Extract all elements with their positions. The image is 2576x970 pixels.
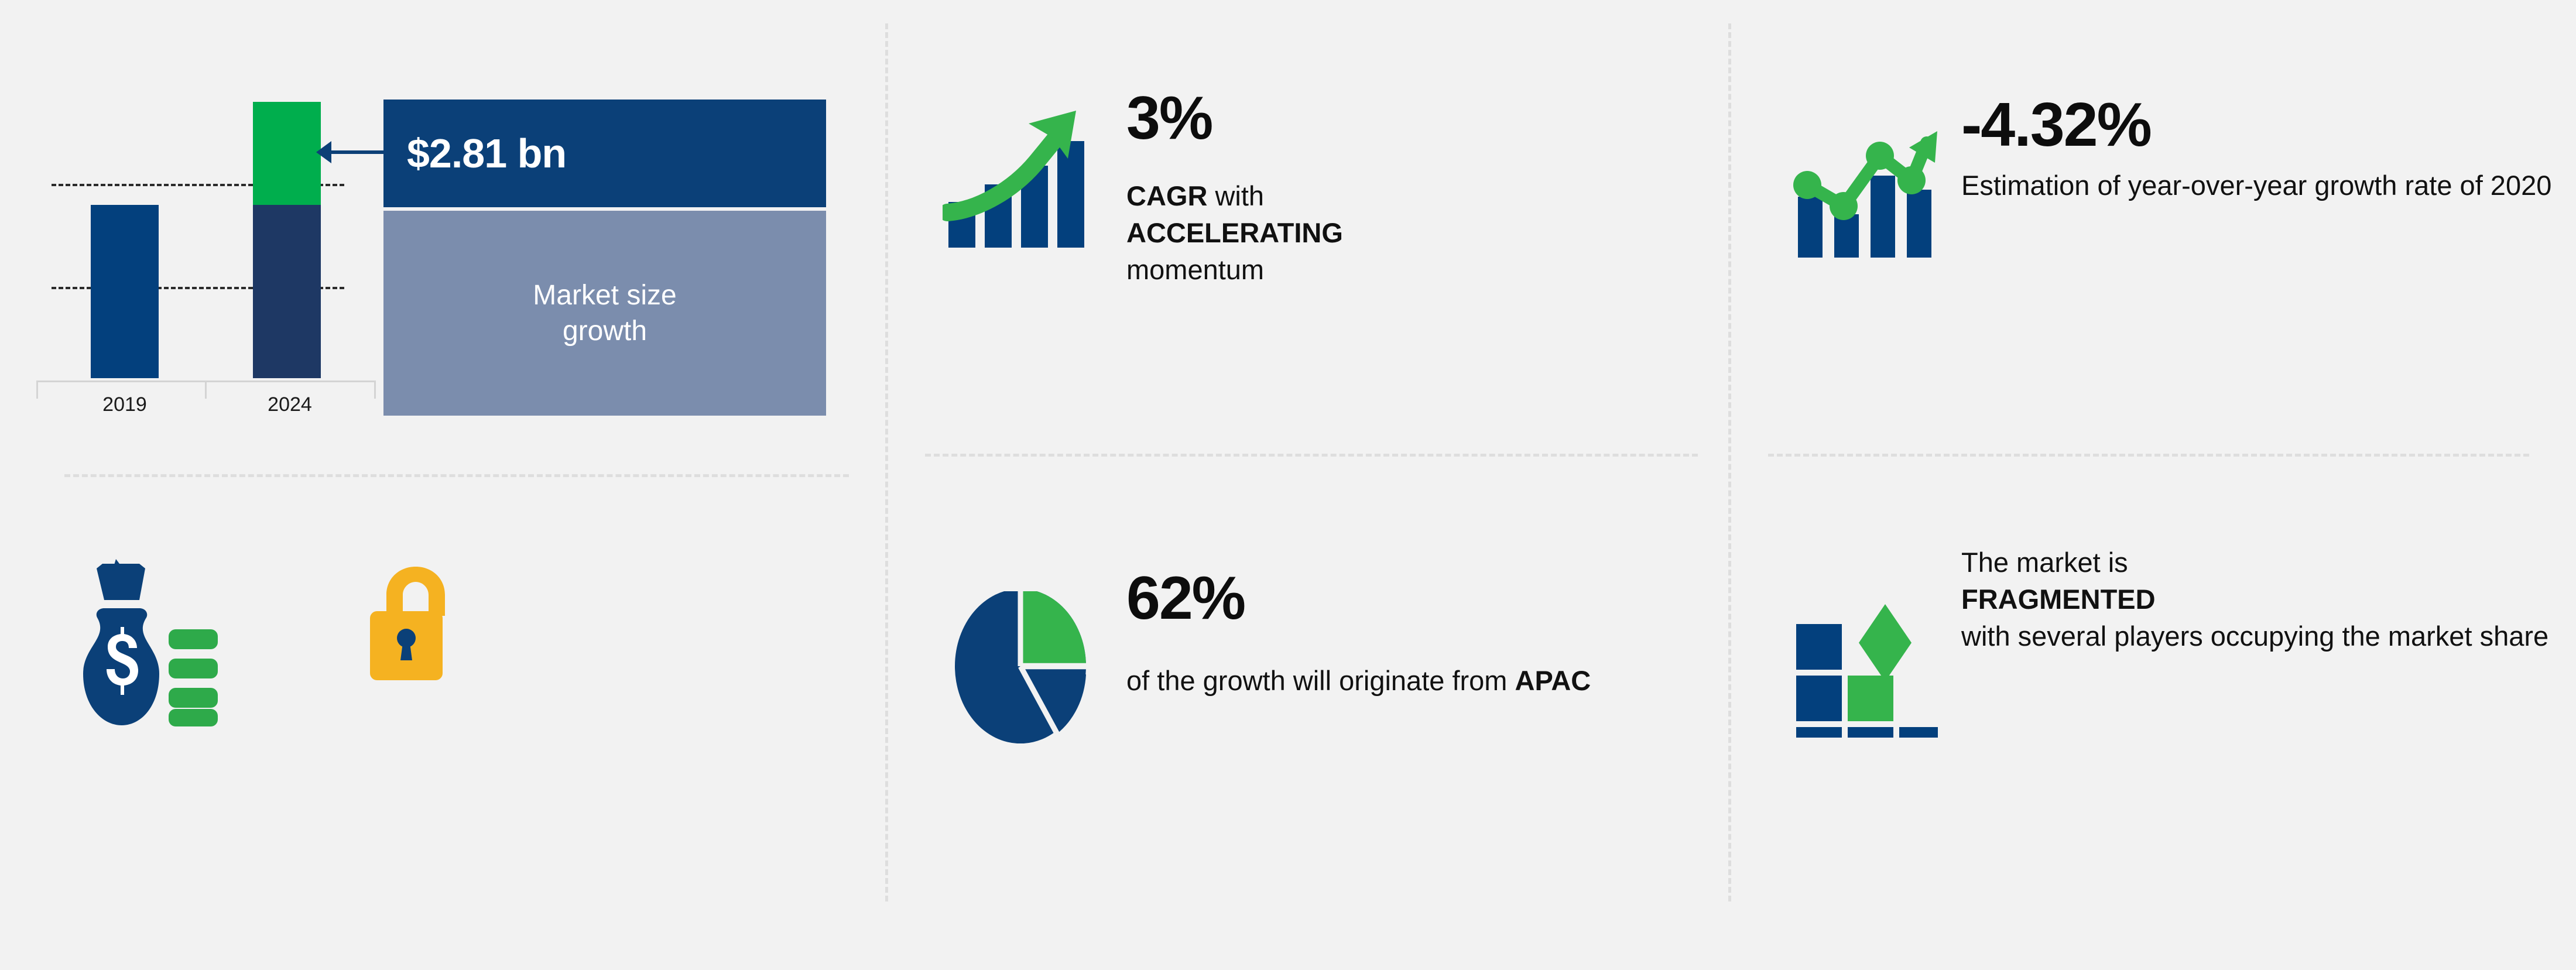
- market-size-growth-panel: 2019 2024 $2.81 bn Market size growth: [0, 0, 878, 457]
- cagr-desc-text-2: momentum: [1126, 254, 1264, 285]
- cagr-panel: 3% CAGR with ACCELERATING momentum: [937, 88, 1698, 289]
- vertical-divider-left: [885, 23, 888, 902]
- cagr-body: 3% CAGR with ACCELERATING momentum: [1107, 88, 1698, 289]
- apac-value: 62%: [1126, 568, 1698, 629]
- market-size-caption-line1: Market size: [533, 280, 676, 311]
- fragmentation-panel: The market is FRAGMENTED with several pl…: [1780, 544, 2558, 738]
- axis-label-2019: 2019: [43, 393, 207, 416]
- horizontal-divider-column-1: [64, 474, 849, 477]
- market-size-caption-line2: growth: [563, 316, 647, 347]
- yoy-body: -4.32% Estimation of year-over-year grow…: [1950, 94, 2558, 204]
- bar-2024-growth: [253, 102, 321, 205]
- cagr-desc-bold-1: CAGR: [1126, 180, 1207, 211]
- axis-label-2024: 2024: [208, 393, 372, 416]
- bar-chart-growth-arrow-icon: [943, 102, 1101, 255]
- money-bag-icon: [70, 559, 234, 729]
- fragmentation-icon-wrap: [1780, 544, 1950, 738]
- cagr-icon-wrap: [937, 88, 1107, 255]
- fragmentation-body: The market is FRAGMENTED with several pl…: [1950, 544, 2558, 655]
- bar-2024-base: [253, 205, 321, 378]
- callout-arrow-head: [316, 141, 331, 163]
- cagr-desc-bold-2: ACCELERATING: [1126, 217, 1343, 248]
- apac-desc-text: of the growth will originate from: [1126, 665, 1515, 696]
- cagr-desc-text-1: with: [1207, 180, 1264, 211]
- apac-desc-bold: APAC: [1515, 665, 1591, 696]
- market-size-value-label: $2.81 bn: [407, 130, 566, 177]
- apac-icon-wrap: [937, 568, 1107, 743]
- market-size-value-box: $2.81 bn: [383, 100, 826, 207]
- line-bar-chart-arrow-icon: [1789, 112, 1941, 259]
- bar-chart-plot: [0, 82, 410, 378]
- apac-body: 62% of the growth will originate from AP…: [1107, 568, 1698, 700]
- cagr-description: CAGR with ACCELERATING momentum: [1126, 178, 1698, 289]
- yoy-description: Estimation of year-over-year growth rate…: [1961, 167, 2558, 204]
- apac-growth-panel: 62% of the growth will originate from AP…: [937, 568, 1698, 743]
- fragmentation-text-bold: FRAGMENTED: [1961, 584, 2156, 615]
- market-size-2019-panel: VIEW Market size in 2019: [0, 527, 878, 890]
- callout-arrow-line: [324, 150, 388, 154]
- fragmented-squares-icon: [1791, 591, 1938, 738]
- horizontal-divider-column-3: [1768, 454, 2529, 457]
- lock-icon: [351, 562, 486, 691]
- fragmentation-description: The market is FRAGMENTED with several pl…: [1961, 544, 2558, 655]
- fragmentation-text-1: The market is: [1961, 547, 2128, 578]
- market-size-caption: Market size growth: [533, 277, 676, 349]
- infographic-root: 2019 2024 $2.81 bn Market size growth: [0, 0, 2576, 970]
- pie-chart-icon: [951, 591, 1092, 743]
- axis-tick-end: [374, 382, 376, 399]
- yoy-value: -4.32%: [1961, 94, 2558, 156]
- fragmentation-text-2: with several players occupying the marke…: [1961, 621, 2548, 652]
- bar-2019: [91, 205, 159, 378]
- axis-tick-start: [36, 382, 38, 399]
- cagr-value: 3%: [1126, 88, 1698, 149]
- yoy-growth-panel: -4.32% Estimation of year-over-year grow…: [1780, 94, 2558, 259]
- vertical-divider-right: [1728, 23, 1731, 902]
- yoy-icon-wrap: [1780, 94, 1950, 259]
- horizontal-divider-column-2: [925, 454, 1698, 457]
- market-size-caption-box: Market size growth: [383, 211, 826, 416]
- apac-description: of the growth will originate from APAC: [1126, 663, 1698, 700]
